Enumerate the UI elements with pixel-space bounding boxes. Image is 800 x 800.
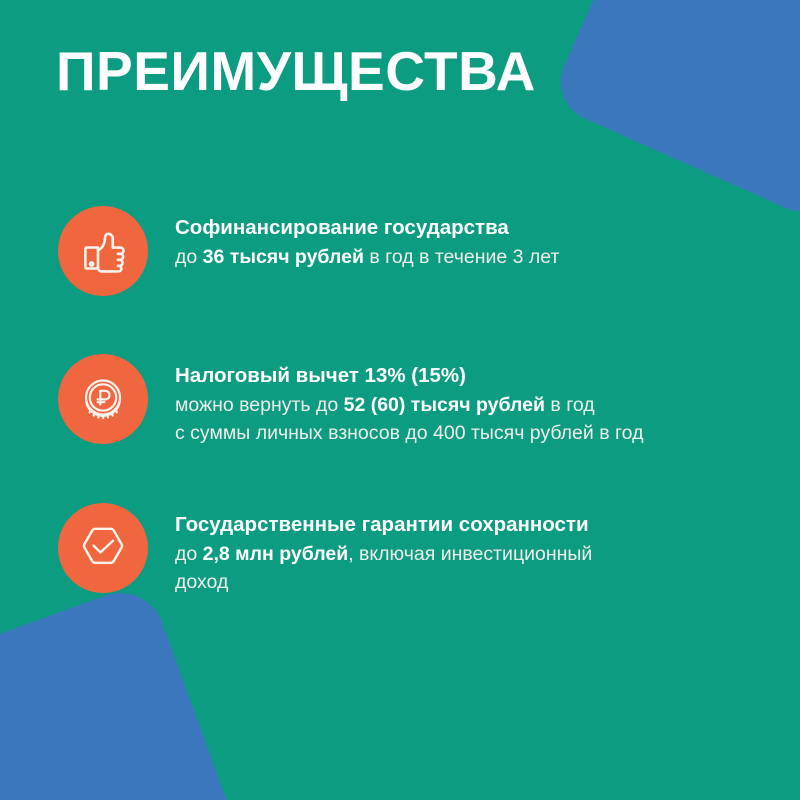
benefit-item-tax-deduction: Налоговый вычет 13% (15%) можно вернуть …	[0, 354, 800, 447]
benefit-line: с суммы личных взносов до 400 тысяч рубл…	[175, 419, 643, 447]
benefit-line-highlight: 36 тысяч рублей	[203, 246, 364, 268]
benefit-line-part: до	[175, 543, 203, 565]
benefit-heading: Государственные гарантии сохранности	[175, 510, 592, 539]
benefit-text: Софинансирование государства до 36 тысяч…	[175, 206, 559, 271]
benefit-line: можно вернуть до 52 (60) тысяч рублей в …	[175, 391, 643, 419]
benefit-line-highlight: 2,8 млн рублей	[203, 543, 349, 565]
benefit-item-cofinancing: Софинансирование государства до 36 тысяч…	[0, 206, 800, 296]
blue-shape-top-right	[548, 0, 800, 224]
benefit-line-part: до	[175, 246, 203, 268]
benefit-line-part: доход	[175, 571, 228, 593]
benefit-text: Налоговый вычет 13% (15%) можно вернуть …	[175, 354, 643, 447]
thumbs-up-icon	[58, 206, 148, 296]
benefits-list: Софинансирование государства до 36 тысяч…	[0, 206, 800, 596]
benefit-line-part: , включая инвестиционный	[348, 543, 592, 565]
benefit-line-highlight: 52 (60) тысяч рублей	[344, 394, 545, 416]
blue-shape-bottom-left	[0, 581, 249, 800]
benefit-line: доход	[175, 568, 592, 596]
page-title: ПРЕИМУЩЕСТВА	[56, 40, 536, 102]
benefit-text: Государственные гарантии сохранности до …	[175, 503, 592, 596]
benefit-line-part: с суммы личных взносов до 400 тысяч рубл…	[175, 422, 643, 444]
benefits-poster: ПРЕИМУЩЕСТВА Софинансирование государств…	[0, 0, 800, 800]
benefit-line-part: в год в течение 3 лет	[364, 246, 559, 268]
benefit-heading: Софинансирование государства	[175, 213, 559, 242]
benefit-line: до 36 тысяч рублей в год в течение 3 лет	[175, 243, 559, 271]
benefit-heading: Налоговый вычет 13% (15%)	[175, 361, 643, 390]
benefit-line-part: в год	[545, 394, 595, 416]
ruble-coin-icon	[58, 354, 148, 444]
benefit-line: до 2,8 млн рублей, включая инвестиционны…	[175, 540, 592, 568]
hexagon-check-icon	[58, 503, 148, 593]
benefit-line-part: можно вернуть до	[175, 394, 344, 416]
benefit-item-state-guarantee: Государственные гарантии сохранности до …	[0, 503, 800, 596]
